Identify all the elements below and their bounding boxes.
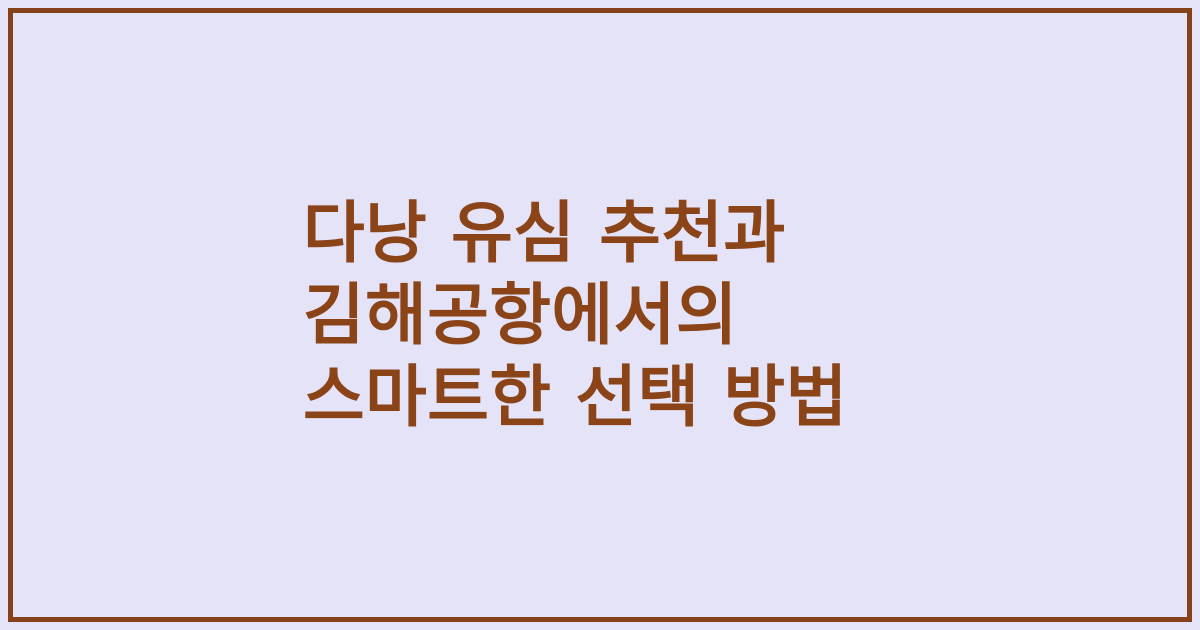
title-block: 다낭 유심 추천과 김해공항에서의 스마트한 선택 방법 — [303, 0, 1163, 630]
title-line-1: 다낭 유심 추천과 — [303, 192, 786, 274]
thumbnail-card: 다낭 유심 추천과 김해공항에서의 스마트한 선택 방법 — [0, 0, 1200, 630]
title-line-2: 김해공항에서의 — [303, 274, 738, 356]
title-line-3: 스마트한 선택 방법 — [303, 356, 848, 438]
